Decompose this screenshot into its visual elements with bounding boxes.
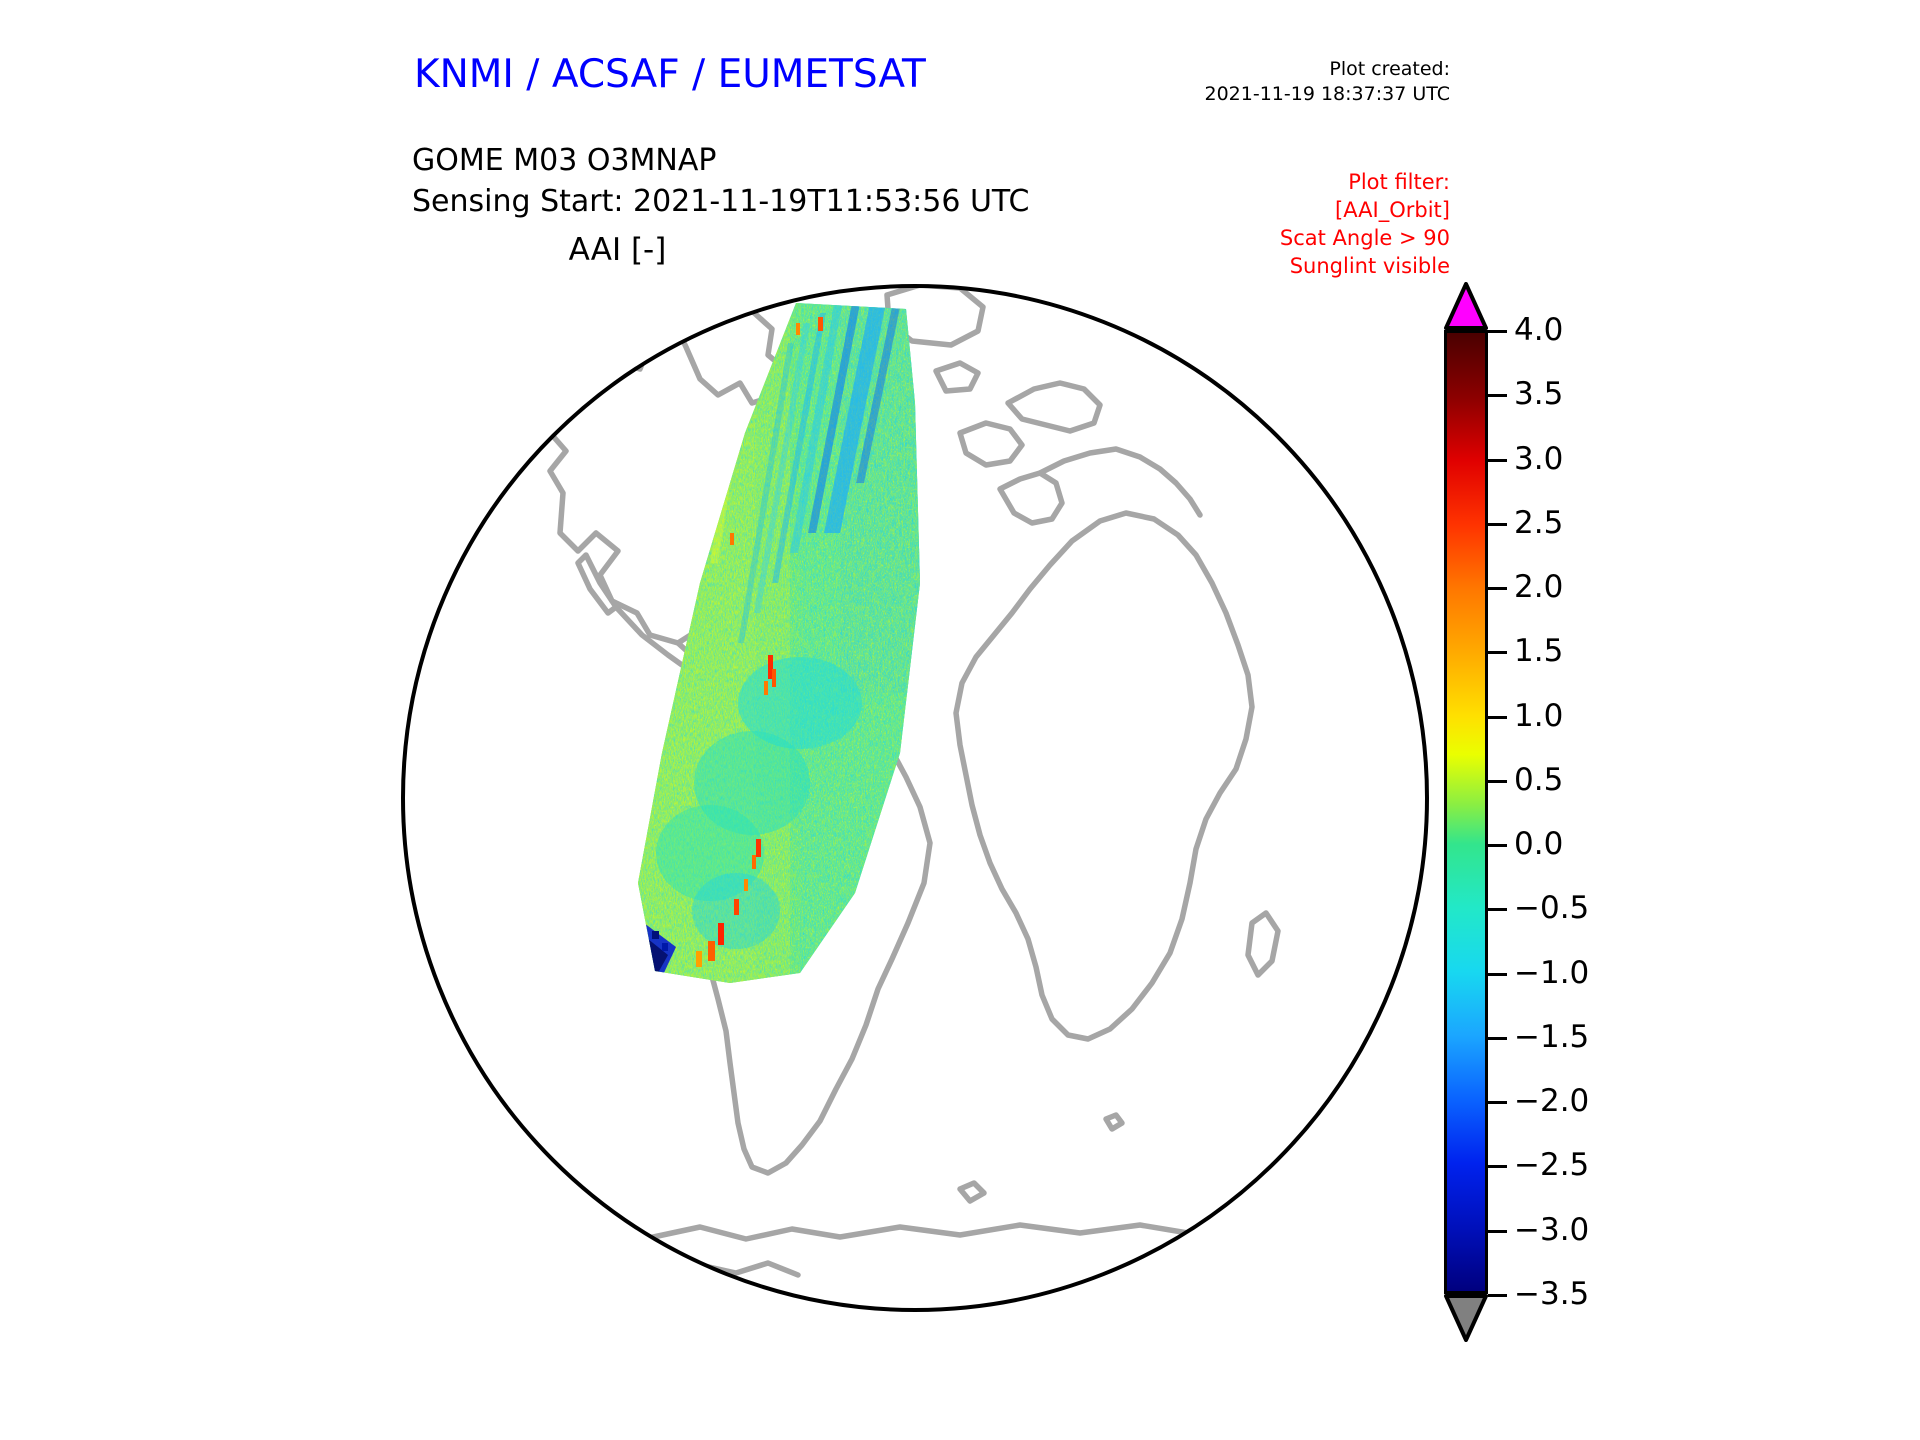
globe-svg [400, 283, 1430, 1313]
product-name: GOME M03 O3MNAP [412, 140, 1029, 181]
colorbar-tick [1488, 1165, 1507, 1168]
colorbar-tick [1488, 394, 1507, 397]
colorbar-tick [1488, 973, 1507, 976]
filter-label: Plot filter: [1280, 168, 1450, 196]
colorbar-tick-label: 3.0 [1514, 441, 1563, 477]
colorbar-tick-label: −1.5 [1514, 1019, 1589, 1055]
colorbar-gradient [1447, 333, 1485, 1291]
plot-created-label: Plot created: [1205, 57, 1451, 82]
colorbar-tick-label: 0.5 [1514, 762, 1563, 798]
colorbar-tick-label: 0.0 [1514, 826, 1563, 862]
colorbar-under-cap [1444, 1294, 1488, 1342]
filter-note: Sunglint visible [1280, 252, 1450, 280]
product-block: GOME M03 O3MNAP Sensing Start: 2021-11-1… [412, 140, 1029, 222]
colorbar: 4.03.53.02.52.01.51.00.50.0−0.5−1.0−1.5−… [1438, 282, 1838, 1342]
colorbar-tick-label: 2.5 [1514, 505, 1563, 541]
colorbar-tick [1488, 844, 1507, 847]
colorbar-tick [1488, 587, 1507, 590]
swath-data-layer [620, 293, 945, 1003]
plot-created-timestamp: 2021-11-19 18:37:37 UTC [1205, 82, 1451, 107]
colorbar-tick-label: −3.0 [1514, 1212, 1589, 1248]
colorbar-tick-label: −2.0 [1514, 1083, 1589, 1119]
colorbar-tick-label: −1.0 [1514, 955, 1589, 991]
colorbar-tick [1488, 459, 1507, 462]
colorbar-tick [1488, 1230, 1507, 1233]
colorbar-tick-label: −0.5 [1514, 890, 1589, 926]
plot-created-block: Plot created: 2021-11-19 18:37:37 UTC [1205, 57, 1451, 107]
colorbar-tick [1488, 651, 1507, 654]
filter-name: [AAI_Orbit] [1280, 196, 1450, 224]
globe-map [400, 283, 1430, 1313]
plot-filter-block: Plot filter: [AAI_Orbit] Scat Angle > 90… [1280, 168, 1450, 280]
colorbar-tick-label: −3.5 [1514, 1276, 1589, 1312]
colorbar-tick [1488, 1294, 1507, 1297]
plot-canvas: KNMI / ACSAF / EUMETSAT Plot created: 20… [0, 0, 1920, 1440]
colorbar-tick-label: 4.0 [1514, 312, 1563, 348]
colorbar-tick [1488, 523, 1507, 526]
filter-condition: Scat Angle > 90 [1280, 224, 1450, 252]
sensing-start: Sensing Start: 2021-11-19T11:53:56 UTC [412, 181, 1029, 222]
coastlines-layer [520, 285, 1320, 1275]
colorbar-tick [1488, 1037, 1507, 1040]
colorbar-tick [1488, 908, 1507, 911]
colorbar-bar[interactable] [1444, 330, 1488, 1294]
colorbar-tick-label: −2.5 [1514, 1147, 1589, 1183]
colorbar-tick-label: 1.0 [1514, 698, 1563, 734]
organisation-title: KNMI / ACSAF / EUMETSAT [414, 52, 926, 97]
colorbar-tick-label: 2.0 [1514, 569, 1563, 605]
colorbar-tick [1488, 716, 1507, 719]
colorbar-tick-label: 3.5 [1514, 376, 1563, 412]
colorbar-tick [1488, 330, 1507, 333]
page-title: AAI [-] [0, 232, 1235, 268]
colorbar-tick [1488, 1101, 1507, 1104]
colorbar-tick-label: 1.5 [1514, 633, 1563, 669]
colorbar-over-cap [1444, 282, 1488, 330]
colorbar-tick [1488, 780, 1507, 783]
